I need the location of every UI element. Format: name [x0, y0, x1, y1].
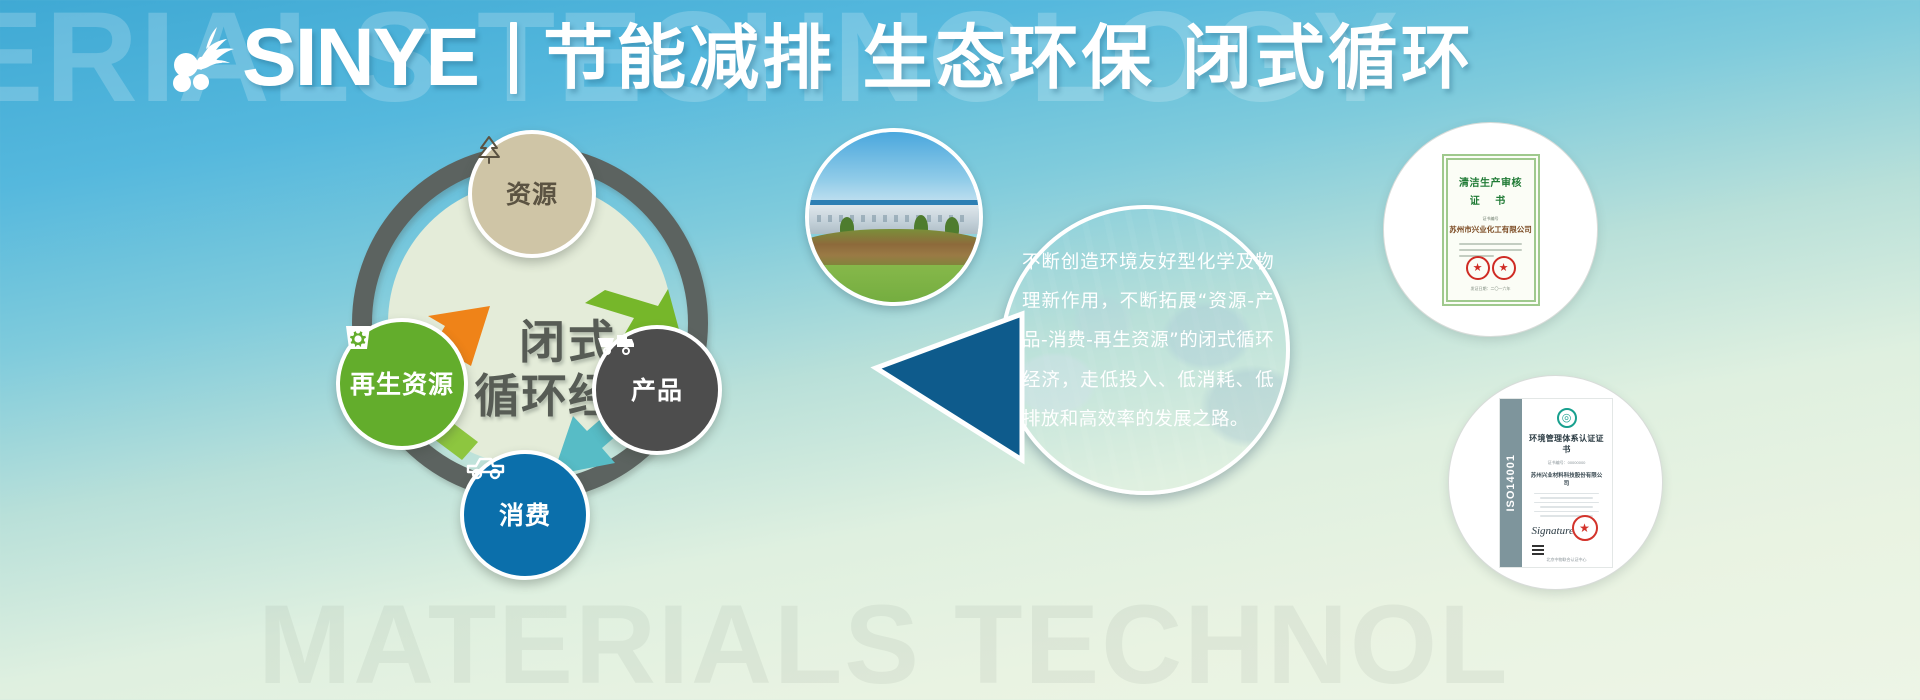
banner-slogan: 节能减排 生态环保 闭式循环	[543, 23, 1474, 93]
certificate-spine-text: ISO14001	[1505, 454, 1517, 512]
bubble-description-text: 不断创造环境友好型化学及物理新作用，不断拓展“资源-产品-消费-再生资源”的闭式…	[1022, 243, 1274, 439]
cycle-node-recycle-label: 再生资源	[350, 372, 454, 397]
certificate-clean-production[interactable]: 清洁生产审核 证 书 证书编号 苏州市兴业化工有限公司 发证日期：二〇一六年	[1383, 122, 1598, 337]
closed-loop-economy-diagram: 闭式 循环经济 资源 产品	[340, 130, 730, 560]
seal-icon	[1466, 256, 1490, 280]
certificate-title-line1: 清洁生产审核	[1459, 174, 1522, 189]
certificate-title-line2: 证 书	[1470, 192, 1511, 207]
cycle-node-recycle[interactable]: 再生资源	[336, 318, 468, 450]
truck-icon	[596, 329, 636, 359]
cycle-node-consume[interactable]: 消费	[460, 450, 590, 580]
photo-sky	[809, 132, 979, 210]
seal-icon	[1492, 256, 1516, 280]
description-speech-bubble: 不断创造环境友好型化学及物理新作用，不断拓展“资源-产品-消费-再生资源”的闭式…	[870, 205, 1290, 605]
header-divider	[510, 22, 517, 94]
seal-icon	[1572, 515, 1598, 541]
certification-mark-icon	[1557, 408, 1577, 428]
certificate-number-label: 证书编号	[1483, 216, 1499, 222]
cycle-node-product[interactable]: 产品	[592, 325, 722, 455]
certificate-company-name: 苏州兴业材料科技股份有限公司	[1529, 471, 1605, 487]
certificate-footer: 北京中物联合认证中心	[1547, 557, 1587, 563]
certificate-body: 环境管理体系认证证书 证书编号：00000000 苏州兴业材料科技股份有限公司 …	[1522, 399, 1612, 567]
cycle-node-resource-label: 资源	[506, 182, 558, 207]
tree-icon	[472, 134, 506, 166]
banner-header: SINYE 节能减排 生态环保 闭式循环	[0, 0, 1920, 115]
certificate-iso14001[interactable]: ISO14001 环境管理体系认证证书 证书编号：00000000 苏州兴业材料…	[1448, 375, 1663, 590]
certificate-body-lines	[1529, 493, 1605, 518]
certificate-seals	[1466, 256, 1516, 280]
signature-icon: Signature	[1532, 525, 1574, 537]
cycle-node-consume-label: 消费	[499, 503, 551, 528]
certificate-company-name: 苏州市兴业化工有限公司	[1449, 224, 1532, 235]
brand-logo-text: SINYE	[242, 17, 478, 99]
certificate-number: 证书编号：00000000	[1529, 460, 1605, 466]
cycle-node-resource[interactable]: 资源	[468, 130, 596, 258]
splash-leaf-icon	[170, 21, 246, 95]
brand-logo[interactable]: SINYE	[170, 17, 478, 99]
certificate-title: 环境管理体系认证证书	[1529, 433, 1605, 455]
car-icon	[464, 454, 508, 484]
certificate-footer: 发证日期：二〇一六年	[1471, 286, 1511, 292]
cycle-node-product-label: 产品	[631, 378, 683, 403]
certificate-paper: ISO14001 环境管理体系认证证书 证书编号：00000000 苏州兴业材料…	[1500, 399, 1612, 567]
qr-code-icon	[1532, 543, 1544, 555]
certificate-spine: ISO14001	[1500, 399, 1522, 567]
certificate-paper: 清洁生产审核 证 书 证书编号 苏州市兴业化工有限公司 发证日期：二〇一六年	[1442, 154, 1540, 306]
recycle-bin-icon	[340, 322, 376, 354]
